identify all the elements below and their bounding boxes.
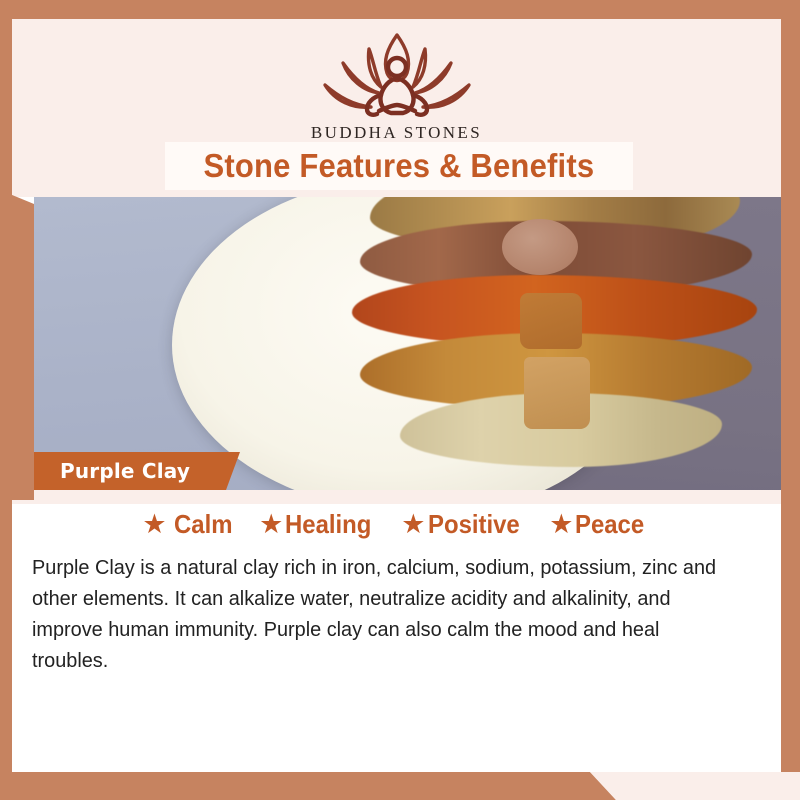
feature-item: ★ Peace (549, 509, 650, 540)
title-banner: Stone Features & Benefits (165, 142, 633, 190)
product-description: Purple Clay is a natural clay rich in ir… (32, 552, 738, 676)
feature-label: Peace (575, 509, 644, 540)
content-area: ★ Calm ★ Healing ★ Positive ★ Peace Purp… (12, 504, 781, 772)
star-icon: ★ (549, 511, 573, 538)
star-icon: ★ (259, 511, 283, 538)
features-row: ★ Calm ★ Healing ★ Positive ★ Peace (12, 509, 781, 540)
powder-swatch-orange (520, 293, 582, 349)
powder-swatch-gold (524, 357, 590, 429)
brand-logo: BUDDHA STONES (12, 25, 781, 143)
page-title: Stone Features & Benefits (204, 147, 595, 185)
frame-left-accent-slab (0, 190, 34, 500)
infographic-page: BUDDHA STONES Stone Features & Benefits … (0, 0, 800, 800)
white-plate (172, 197, 647, 490)
product-label-banner: Purple Clay (12, 452, 240, 490)
brand-name: BUDDHA STONES (12, 123, 781, 143)
product-photo (34, 197, 781, 490)
lotus-meditation-figure-icon (309, 25, 485, 121)
feature-label: Positive (428, 509, 520, 540)
feature-item: ★ Positive (401, 509, 527, 540)
feature-item: ★ Calm (142, 509, 237, 540)
product-label-text: Purple Clay (60, 459, 190, 483)
content-top-strip (12, 490, 781, 504)
feature-label: Healing (285, 509, 371, 540)
powder-swatch-rose (502, 219, 578, 275)
feature-label: Calm (174, 509, 232, 540)
frame-right-border (781, 0, 800, 800)
star-icon: ★ (142, 511, 166, 538)
frame-top-border (0, 0, 800, 19)
star-icon: ★ (401, 511, 425, 538)
feature-item: ★ Healing (259, 509, 379, 540)
header-band: BUDDHA STONES Stone Features & Benefits (12, 19, 781, 197)
